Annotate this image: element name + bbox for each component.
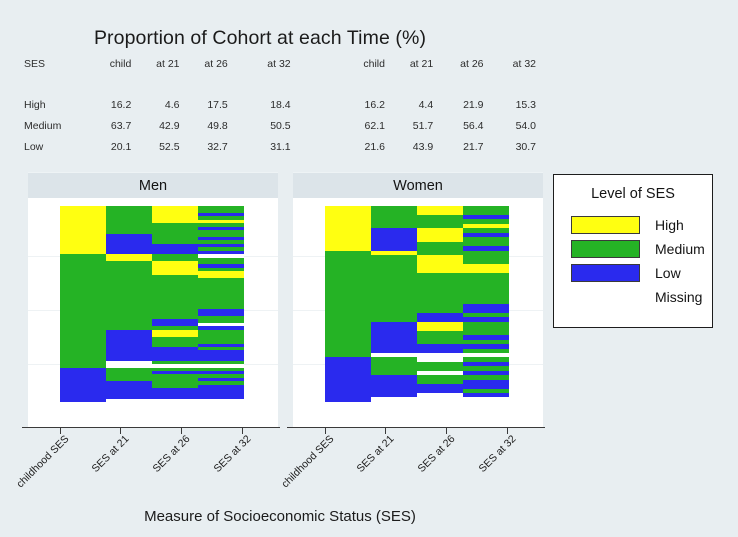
- page-title: Proportion of Cohort at each Time (%): [0, 27, 520, 50]
- header-women-at21: at 21: [385, 56, 433, 72]
- sequence-cell-missing: [198, 399, 244, 402]
- x-tick-label: childhood SES: [14, 433, 71, 490]
- legend-row: Medium: [571, 237, 712, 261]
- cell-women-low-at26: 21.7: [433, 136, 483, 157]
- cell-gap: [291, 136, 335, 157]
- cell-men-low-at26: 32.7: [180, 136, 228, 157]
- sequence-cell-missing: [463, 397, 509, 401]
- sequence-cell-missing: [152, 399, 198, 402]
- cell-men-low-at21: 52.5: [131, 136, 179, 157]
- cell-women-high-child: 16.2: [335, 94, 385, 115]
- panel-title-women: Women: [293, 172, 543, 198]
- legend-row: Low: [571, 261, 712, 285]
- cell-men-high-at32: 18.4: [228, 94, 291, 115]
- sequence-index-plot-women: [325, 206, 509, 402]
- table-corner-label: SES: [16, 56, 83, 72]
- sequence-cell-low: [325, 397, 371, 401]
- cell-women-low-child: 21.6: [335, 136, 385, 157]
- cell-women-high-at32: 15.3: [484, 94, 536, 115]
- legend-swatch-medium: [571, 240, 640, 258]
- cell-men-medium-at32: 50.5: [228, 115, 291, 136]
- legend-title: Level of SES: [554, 186, 712, 202]
- x-tick-label: SES at 21: [355, 433, 397, 475]
- row-label-medium: Medium: [16, 115, 83, 136]
- row-label-high: High: [16, 94, 83, 115]
- sequence-row: [60, 399, 244, 402]
- plot-area-men: [28, 198, 278, 428]
- cell-gap: [291, 115, 335, 136]
- cell-women-medium-child: 62.1: [335, 115, 385, 136]
- panel-title-men: Men: [28, 172, 278, 198]
- cell-men-high-at21: 4.6: [131, 94, 179, 115]
- row-label-low: Low: [16, 136, 83, 157]
- table-header-row: SES child at 21 at 26 at 32 child at 21 …: [16, 56, 536, 72]
- x-tick-label: SES at 32: [211, 433, 253, 475]
- panel-women: Women: [293, 172, 543, 428]
- x-tick-label: SES at 32: [476, 433, 518, 475]
- cell-men-low-at32: 31.1: [228, 136, 291, 157]
- cell-gap: [291, 94, 335, 115]
- cell-men-medium-child: 63.7: [83, 115, 131, 136]
- legend-row: Missing: [571, 285, 712, 309]
- legend: Level of SES HighMediumLowMissing: [553, 174, 713, 328]
- sequence-row: [325, 397, 509, 401]
- cell-women-low-at32: 30.7: [484, 136, 536, 157]
- header-men-at21: at 21: [131, 56, 179, 72]
- cell-men-low-child: 20.1: [83, 136, 131, 157]
- sequence-cell-missing: [371, 397, 417, 401]
- x-tick-label: SES at 26: [416, 433, 458, 475]
- x-tick: [242, 428, 243, 434]
- table-body: High 16.2 4.6 17.5 18.4 16.2 4.4 21.9 15…: [16, 72, 536, 157]
- legend-label-high: High: [655, 217, 684, 233]
- figure-root: Proportion of Cohort at each Time (%) SE…: [0, 0, 738, 537]
- legend-swatch-low: [571, 264, 640, 282]
- legend-row: High: [571, 213, 712, 237]
- x-tick: [507, 428, 508, 434]
- table-row: Low 20.1 52.5 32.7 31.1 21.6 43.9 21.7 3…: [16, 136, 536, 157]
- cell-women-high-at21: 4.4: [385, 94, 433, 115]
- header-men-child: child: [83, 56, 131, 72]
- x-tick: [325, 428, 326, 434]
- legend-label-low: Low: [655, 265, 681, 281]
- proportion-table: SES child at 21 at 26 at 32 child at 21 …: [16, 56, 536, 157]
- x-tick-label: SES at 26: [151, 433, 193, 475]
- x-tick: [446, 428, 447, 434]
- header-gap: [291, 56, 335, 72]
- header-men-at32: at 32: [228, 56, 291, 72]
- legend-swatch-missing: [571, 288, 640, 306]
- x-tick-label: childhood SES: [279, 433, 336, 490]
- header-women-child: child: [335, 56, 385, 72]
- cell-women-medium-at32: 54.0: [484, 115, 536, 136]
- cell-men-medium-at21: 42.9: [131, 115, 179, 136]
- sequence-cell-missing: [417, 397, 463, 401]
- panel-men: Men: [28, 172, 278, 428]
- cell-women-medium-at21: 51.7: [385, 115, 433, 136]
- x-axis-title: Measure of Socioeconomic Status (SES): [0, 508, 560, 525]
- header-women-at26: at 26: [433, 56, 483, 72]
- legend-items: HighMediumLowMissing: [554, 213, 712, 309]
- cell-women-high-at26: 21.9: [433, 94, 483, 115]
- x-tick-label: SES at 21: [90, 433, 132, 475]
- table-spacer-row: [16, 72, 536, 94]
- header-women-at32: at 32: [484, 56, 536, 72]
- legend-swatch-high: [571, 216, 640, 234]
- cell-men-medium-at26: 49.8: [180, 115, 228, 136]
- sequence-cell-missing: [106, 399, 152, 402]
- sequence-cell-low: [60, 399, 106, 402]
- sequence-index-plot-men: [60, 206, 244, 402]
- table-header: SES child at 21 at 26 at 32 child at 21 …: [16, 56, 536, 72]
- legend-label-medium: Medium: [655, 241, 705, 257]
- x-tick: [60, 428, 61, 434]
- table-row: Medium 63.7 42.9 49.8 50.5 62.1 51.7 56.…: [16, 115, 536, 136]
- table-row: High 16.2 4.6 17.5 18.4 16.2 4.4 21.9 15…: [16, 94, 536, 115]
- header-men-at26: at 26: [180, 56, 228, 72]
- legend-label-missing: Missing: [655, 289, 702, 305]
- plot-area-women: [293, 198, 543, 428]
- cell-men-high-child: 16.2: [83, 94, 131, 115]
- x-tick: [181, 428, 182, 434]
- cell-men-high-at26: 17.5: [180, 94, 228, 115]
- cell-women-medium-at26: 56.4: [433, 115, 483, 136]
- cell-women-low-at21: 43.9: [385, 136, 433, 157]
